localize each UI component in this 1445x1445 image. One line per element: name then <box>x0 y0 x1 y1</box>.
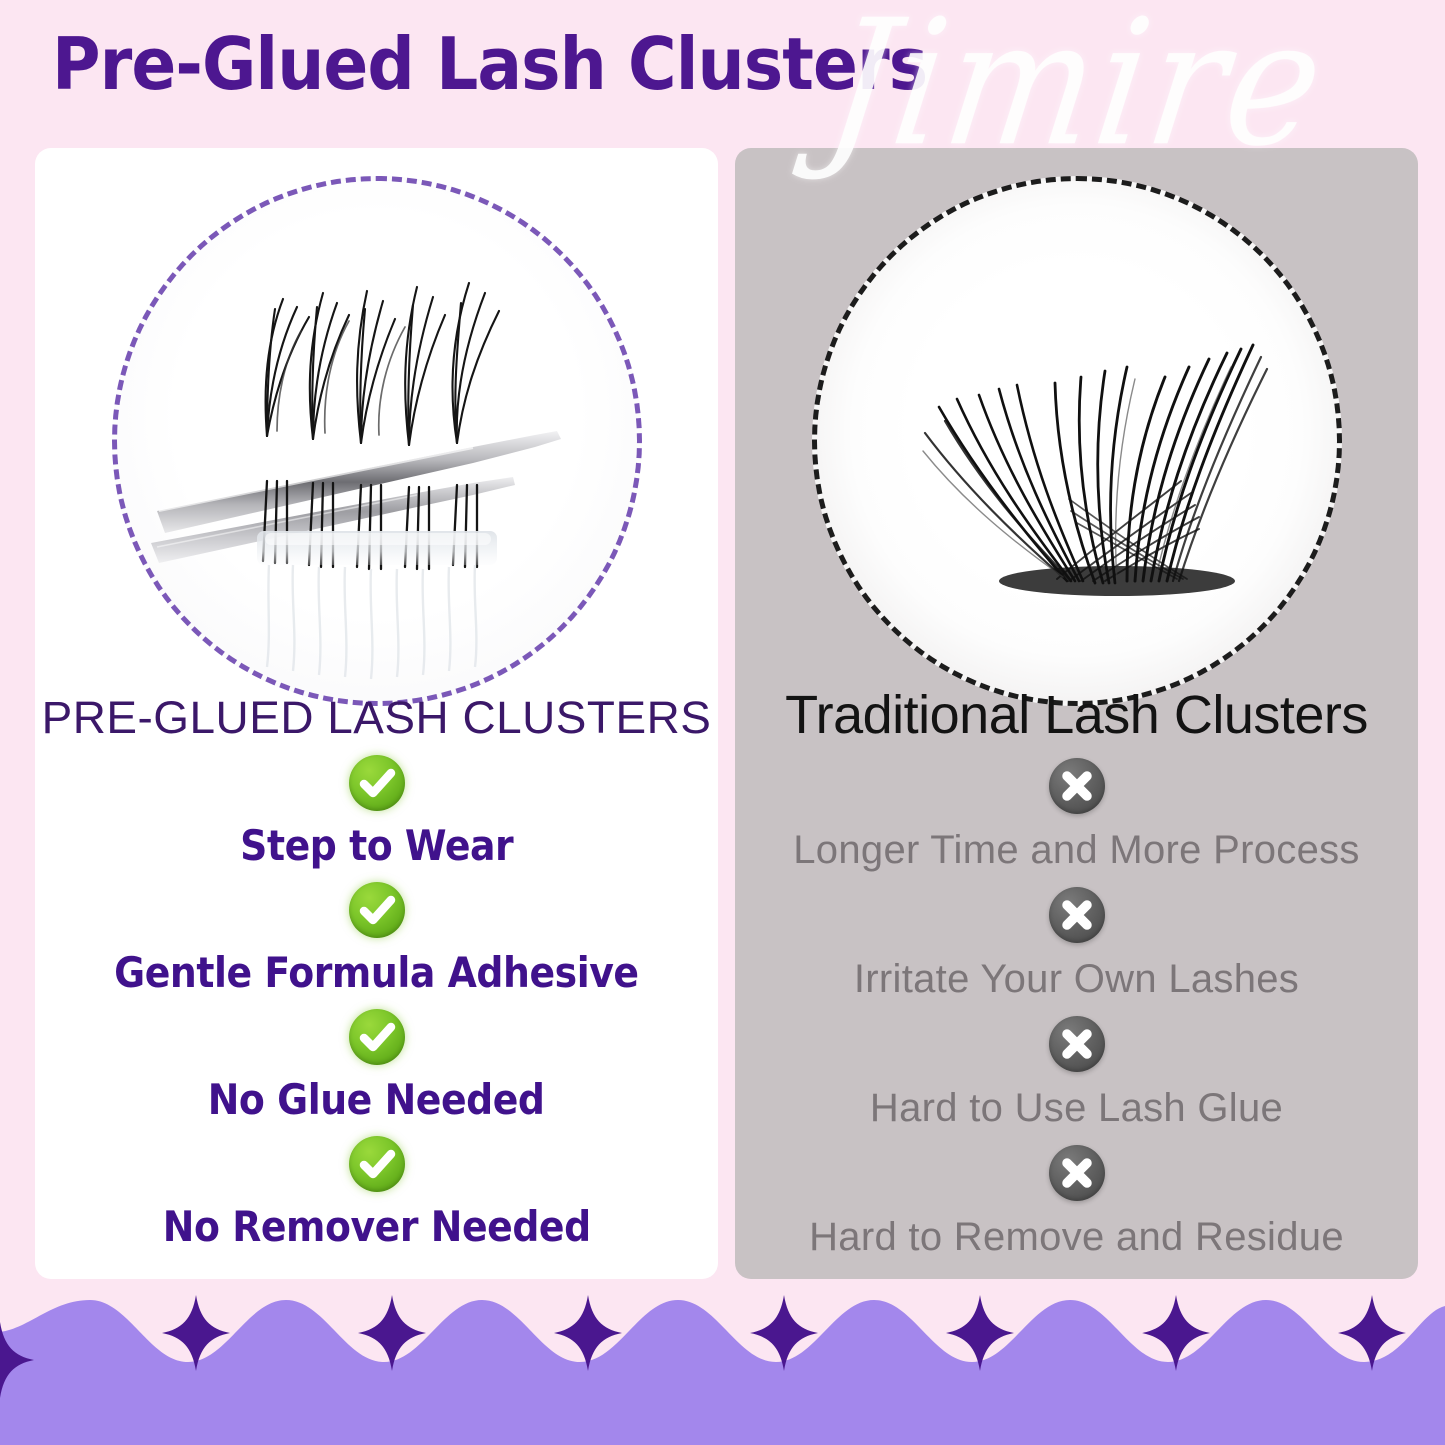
left-panel-heading: PRE-GLUED LASH CLUSTERS <box>35 692 718 744</box>
list-item: No Glue Needed <box>35 1009 718 1136</box>
page-title: Pre-Glued Lash Clusters <box>52 22 927 106</box>
traditional-lash-photo <box>812 176 1342 706</box>
gray-cross-icon <box>1049 1145 1105 1201</box>
green-check-icon <box>349 882 405 938</box>
right-feature-label: Irritate Your Own Lashes <box>854 957 1299 1002</box>
right-feature-list: Longer Time and More Process Irritate Yo… <box>735 758 1418 1274</box>
wave-shape <box>0 1300 1445 1445</box>
gray-cross-icon <box>1049 887 1105 943</box>
list-item: No Remover Needed <box>35 1136 718 1263</box>
list-item: Hard to Use Lash Glue <box>735 1016 1418 1145</box>
traditional-lash-illustration <box>817 181 1337 701</box>
infographic-canvas: Pre-Glued Lash Clusters Jimire <box>0 0 1445 1445</box>
panel-traditional: Traditional Lash Clusters Longer Time an… <box>735 148 1418 1279</box>
list-item: Irritate Your Own Lashes <box>735 887 1418 1016</box>
list-item: Hard to Remove and Residue <box>735 1145 1418 1274</box>
list-item: Gentle Formula Adhesive <box>35 882 718 1009</box>
right-feature-label: Hard to Use Lash Glue <box>870 1086 1283 1131</box>
green-check-icon <box>349 1009 405 1065</box>
green-check-icon <box>349 755 405 811</box>
gray-cross-icon <box>1049 758 1105 814</box>
list-item: Step to Wear <box>35 755 718 882</box>
green-check-icon <box>349 1136 405 1192</box>
left-feature-list: Step to Wear Gentle Formula Adhesive No … <box>35 755 718 1263</box>
list-item: Longer Time and More Process <box>735 758 1418 887</box>
left-feature-label: Gentle Formula Adhesive <box>114 948 638 997</box>
panel-pre-glued: PRE-GLUED LASH CLUSTERS Step to Wear Gen… <box>35 148 718 1279</box>
left-feature-label: No Remover Needed <box>163 1202 591 1251</box>
right-panel-heading: Traditional Lash Clusters <box>735 684 1418 746</box>
pre-glued-lash-illustration <box>117 181 637 701</box>
left-feature-label: No Glue Needed <box>208 1075 545 1124</box>
bottom-wave-decoration <box>0 1270 1445 1445</box>
pre-glued-lash-photo <box>112 176 642 706</box>
right-feature-label: Longer Time and More Process <box>793 828 1359 873</box>
gray-cross-icon <box>1049 1016 1105 1072</box>
right-feature-label: Hard to Remove and Residue <box>809 1215 1344 1260</box>
left-feature-label: Step to Wear <box>240 821 513 870</box>
